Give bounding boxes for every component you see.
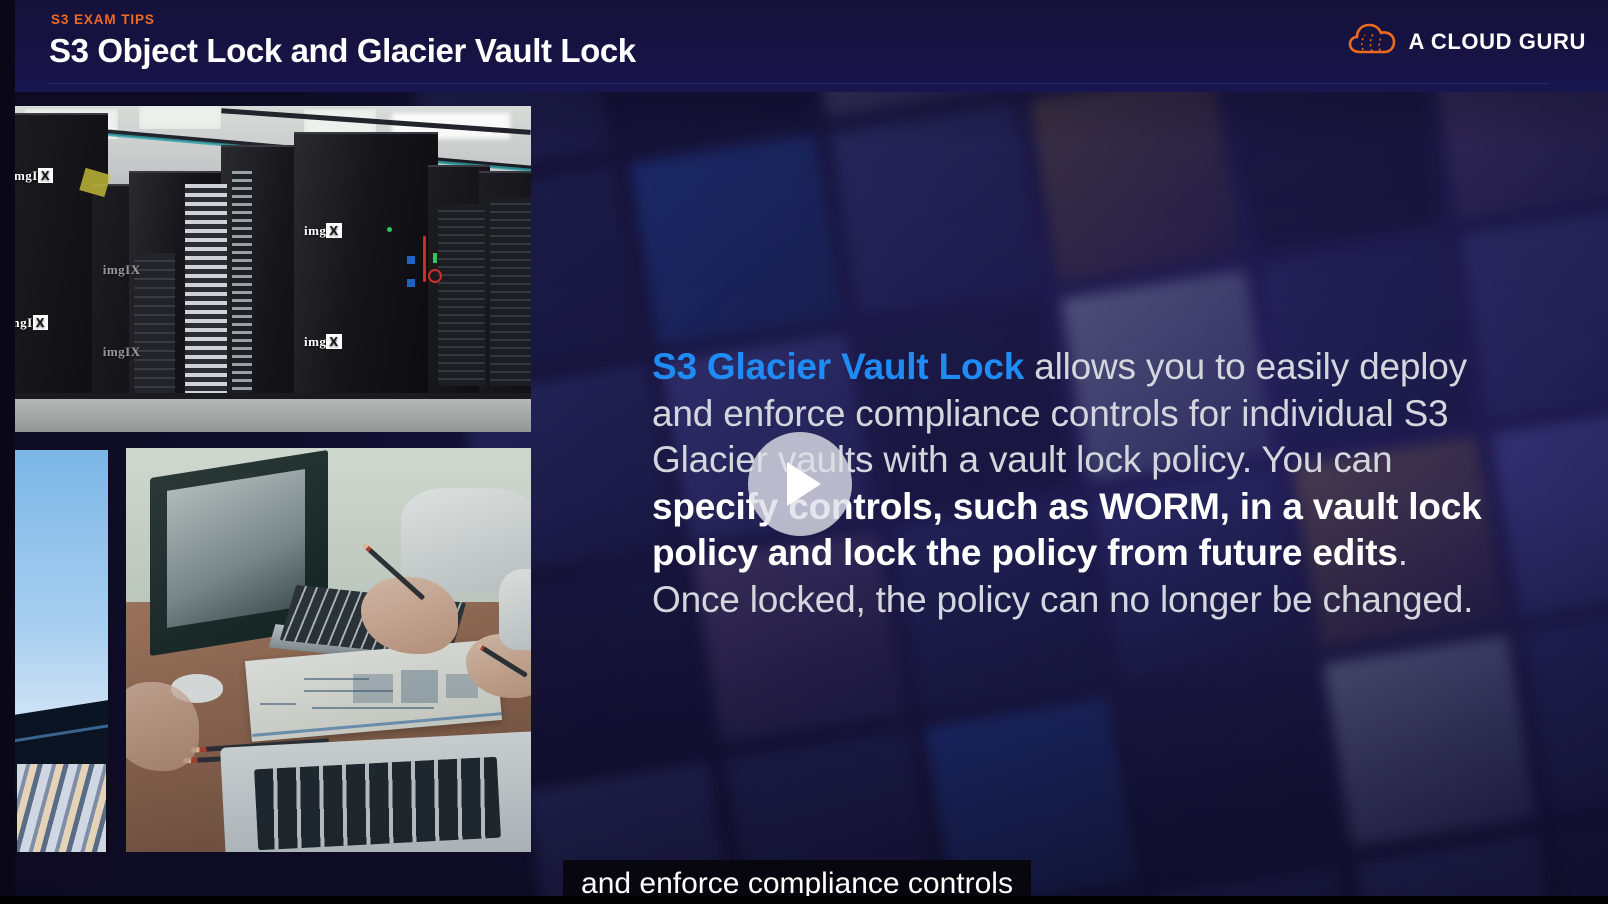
header-divider [48,83,1548,84]
play-button[interactable] [748,432,852,536]
brand-name: A CLOUD GURU [1409,29,1587,55]
cloud-outline-icon [1348,22,1396,61]
page-title: S3 Object Lock and Glacier Vault Lock [49,32,636,70]
brand-lockup: A CLOUD GURU [1348,22,1587,61]
left-gutter [0,0,15,904]
sky-building-photo [15,450,108,852]
slide-header: S3 EXAM TIPS S3 Object Lock and Glacier … [0,0,1608,92]
server-room-photo: imgIX imgIX imgX imgX imgIX imgIX [15,106,531,432]
slide-stage: S3 EXAM TIPS S3 Object Lock and Glacier … [0,0,1608,904]
desk-laptop-photo [126,448,531,852]
bottom-strip [0,896,1608,904]
body-accent-phrase: S3 Glacier Vault Lock [652,346,1024,387]
eyebrow-label: S3 EXAM TIPS [51,12,155,27]
